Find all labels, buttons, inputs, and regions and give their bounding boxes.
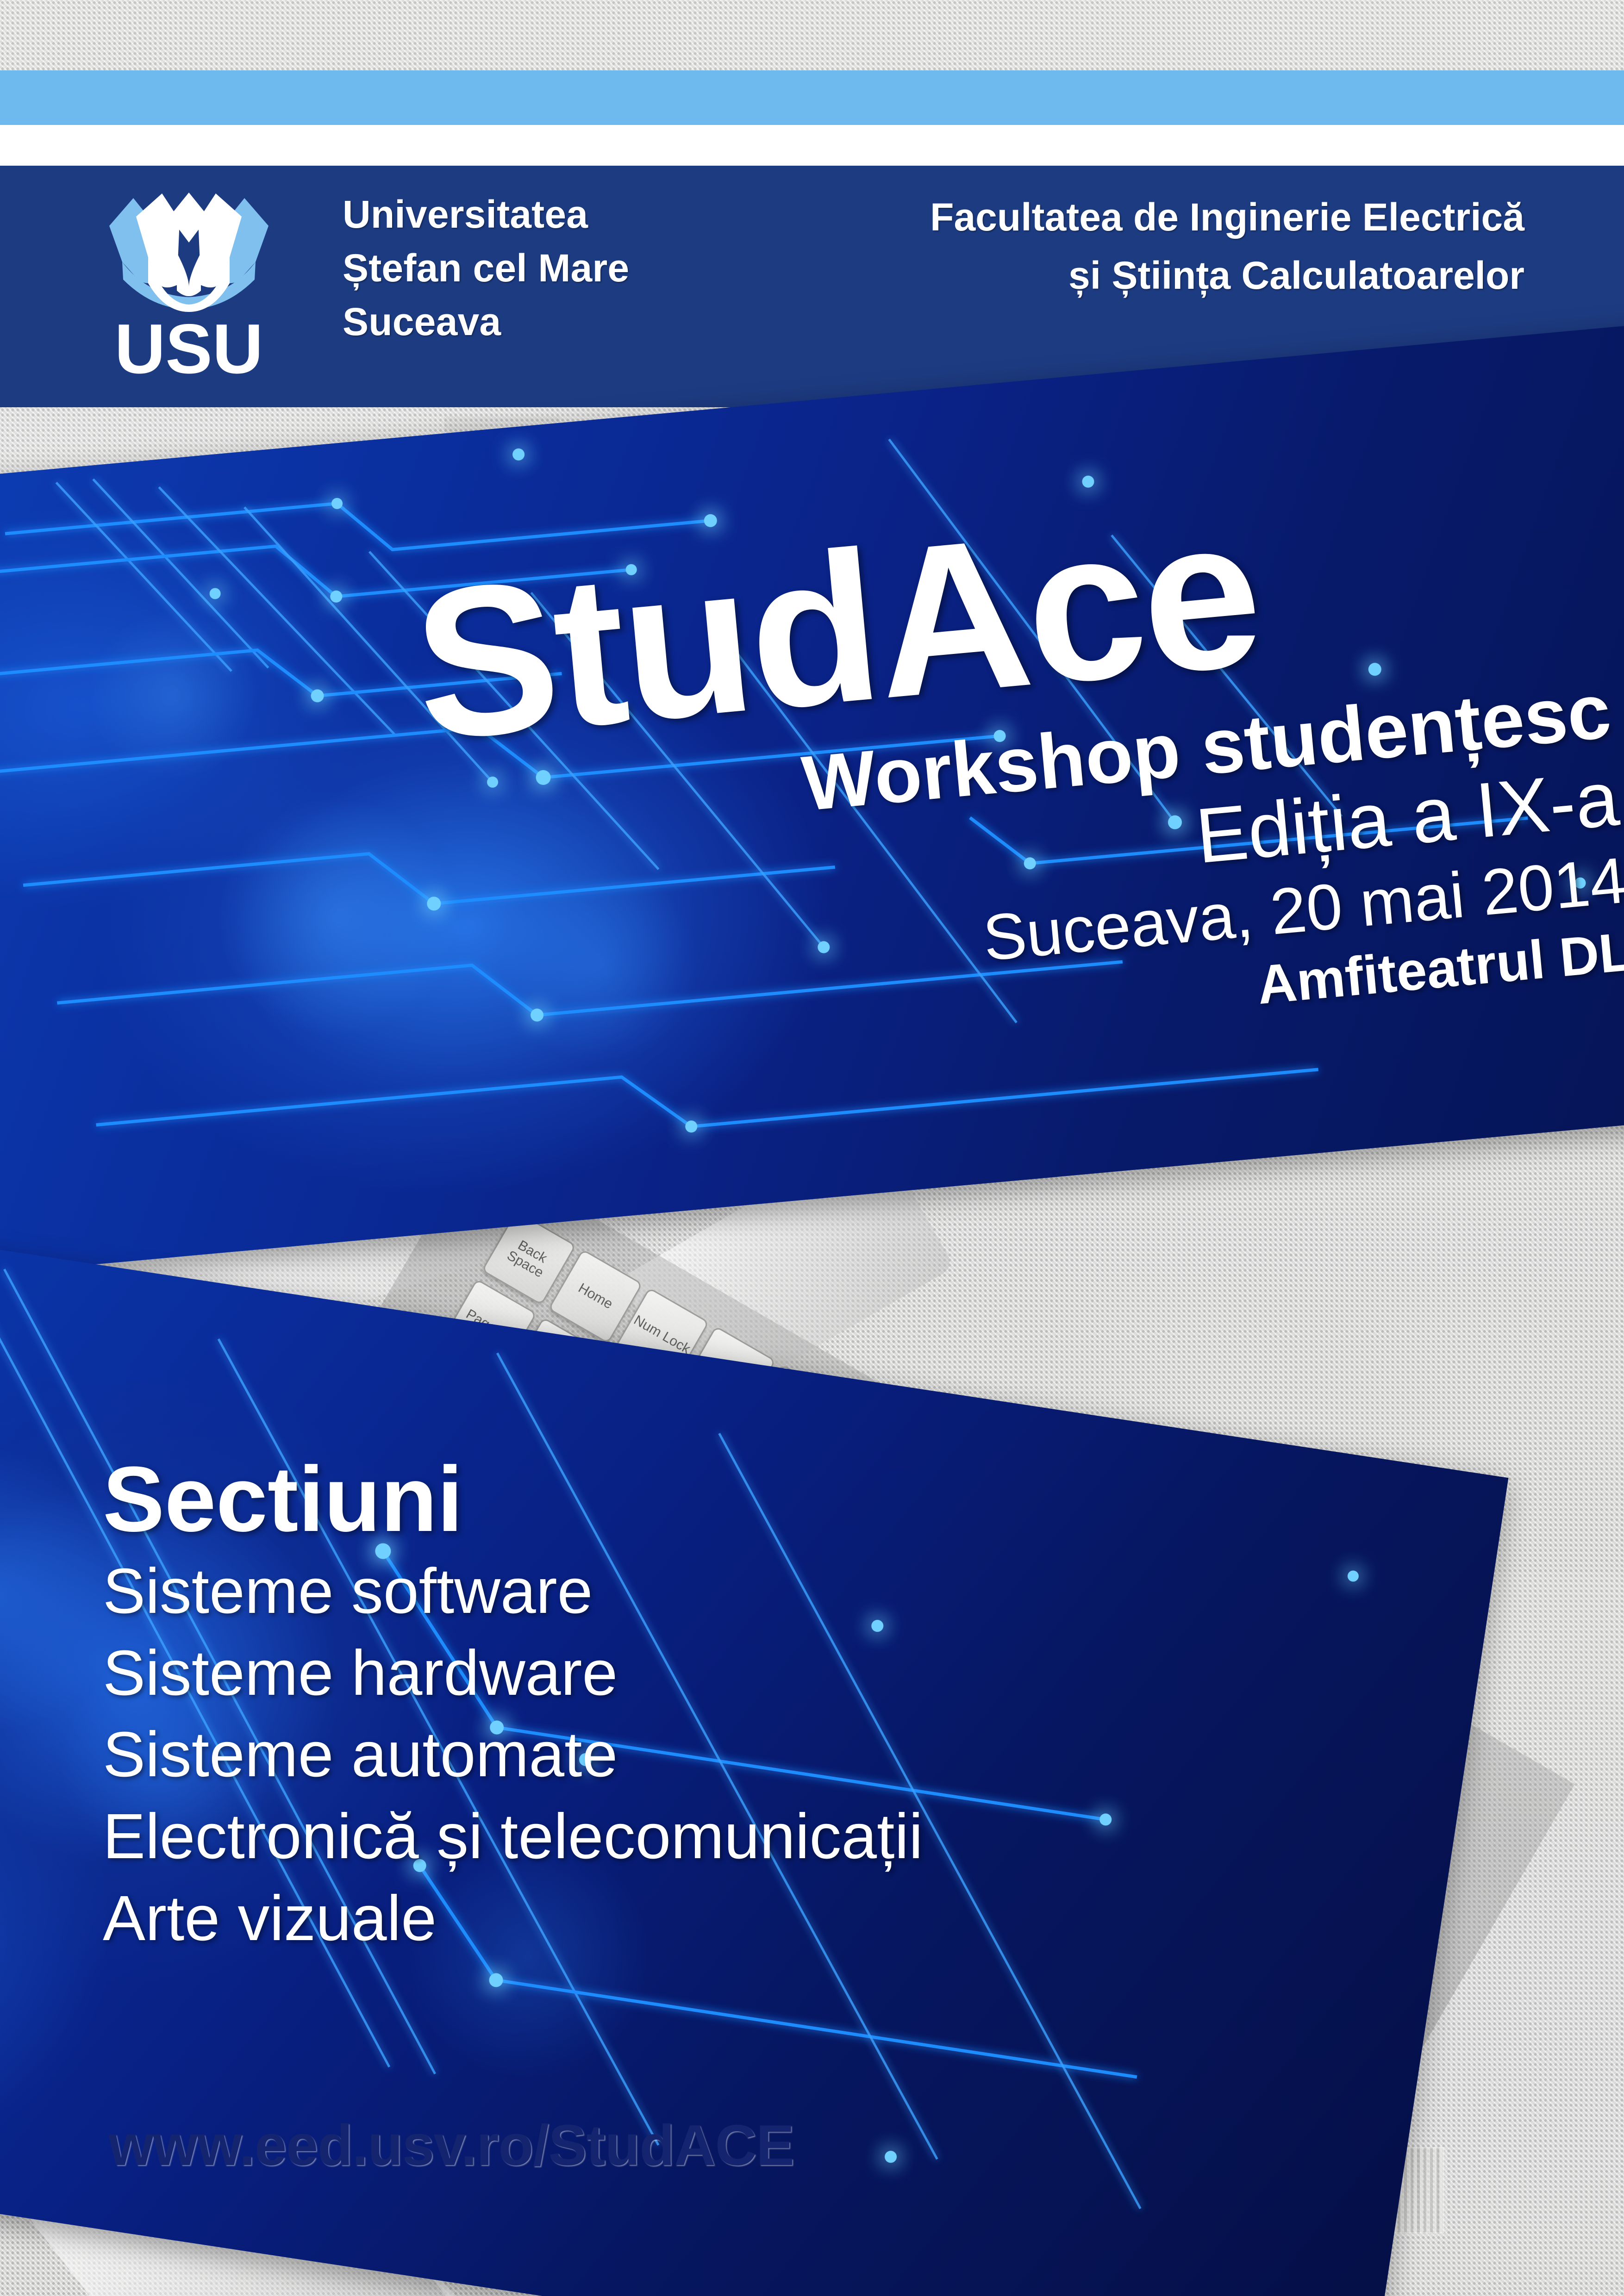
- sections-text-block: Sectiuni Sisteme software Sisteme hardwa…: [103, 1453, 1075, 1959]
- usu-crown-logo-icon: USU: [106, 188, 272, 382]
- usu-wordmark: USU: [115, 310, 263, 382]
- section-item: Arte vizuale: [103, 1878, 1075, 1960]
- section-item: Sisteme automate: [103, 1714, 1075, 1796]
- university-line-2: Ștefan cel Mare: [343, 242, 629, 295]
- band-white: [0, 125, 1624, 166]
- university-line-1: Universitatea: [343, 188, 629, 242]
- sections-heading: Sectiuni: [103, 1453, 1075, 1546]
- website-url[interactable]: www.eed.usv.ro/StudACE: [109, 2113, 794, 2178]
- bokeh-glow: [83, 604, 264, 785]
- title-text-block: StudAce Workshop studențesc Ediția a IX-…: [407, 462, 1624, 1089]
- section-item: Electronică și telecomunicații: [103, 1796, 1075, 1878]
- university-line-3: Suceava: [343, 295, 629, 349]
- faculty-line-2: și Știința Calculatoarelor: [930, 246, 1524, 305]
- faculty-name: Facultatea de Inginerie Electrică și Ști…: [930, 188, 1524, 305]
- university-name: Universitatea Ștefan cel Mare Suceava: [343, 188, 629, 349]
- faculty-line-1: Facultatea de Inginerie Electrică: [930, 188, 1524, 246]
- bokeh-glow: [207, 786, 468, 1048]
- section-item: Sisteme software: [103, 1550, 1075, 1632]
- section-item: Sisteme hardware: [103, 1632, 1075, 1714]
- band-light-blue: [0, 70, 1624, 125]
- poster: Back Space Home Num Lock / * Page up 7 8…: [0, 0, 1624, 2296]
